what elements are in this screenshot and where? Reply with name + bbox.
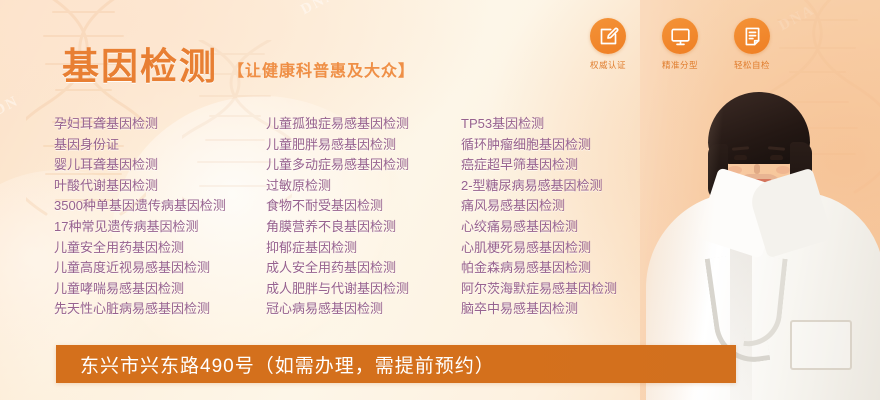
list-item[interactable]: 叶酸代谢基因检测 xyxy=(54,176,266,197)
list-item[interactable]: 婴儿耳聋基因检测 xyxy=(54,155,266,176)
list-item[interactable]: 儿童多动症易感基因检测 xyxy=(266,155,461,176)
list-item[interactable]: 帕金森病易感基因检测 xyxy=(461,258,691,279)
address-banner: 东兴市兴东路490号（如需办理，需提前预约） xyxy=(56,345,736,383)
list-item[interactable]: 过敏原检测 xyxy=(266,176,461,197)
list-item[interactable]: 17种常见遗传病基因检测 xyxy=(54,217,266,238)
list-item[interactable]: 儿童肥胖易感基因检测 xyxy=(266,135,461,156)
list-item[interactable]: 儿童哮喘易感基因检测 xyxy=(54,279,266,300)
list-item[interactable]: 癌症超早筛基因检测 xyxy=(461,155,691,176)
list-item[interactable]: 成人肥胖与代谢基因检测 xyxy=(266,279,461,300)
list-item[interactable]: 孕妇耳聋基因检测 xyxy=(54,114,266,135)
list-item[interactable]: 脑卒中易感基因检测 xyxy=(461,299,691,320)
list-item[interactable]: 先天性心脏病易感基因检测 xyxy=(54,299,266,320)
list-item[interactable]: 痛风易感基因检测 xyxy=(461,196,691,217)
monitor-icon xyxy=(662,18,698,54)
badge-authority-certification[interactable]: 权威认证 xyxy=(584,18,632,71)
page-subtitle: 【让健康科普惠及大众】 xyxy=(228,57,415,85)
watermark-text: DNA xyxy=(298,0,340,19)
address-text: 东兴市兴东路490号（如需办理，需提前预约） xyxy=(56,351,495,378)
list-item[interactable]: 儿童高度近视易感基因检测 xyxy=(54,258,266,279)
list-item[interactable]: 3500种单基因遗传病基因检测 xyxy=(54,196,266,217)
badge-label: 精准分型 xyxy=(662,59,698,71)
badge-label: 权威认证 xyxy=(590,59,626,71)
list-item[interactable]: 阿尔茨海默症易感基因检测 xyxy=(461,279,691,300)
list-item[interactable]: 抑郁症基因检测 xyxy=(266,238,461,259)
watermark-text: DN xyxy=(0,93,22,120)
document-icon xyxy=(734,18,770,54)
pen-edit-icon xyxy=(590,18,626,54)
service-column-1: 孕妇耳聋基因检测 基因身份证 婴儿耳聋基因检测 叶酸代谢基因检测 3500种单基… xyxy=(54,114,266,320)
badge-precise-typing[interactable]: 精准分型 xyxy=(656,18,704,71)
poster-header: 基因检测 【让健康科普惠及大众】 xyxy=(62,48,415,85)
list-item[interactable]: 儿童孤独症易感基因检测 xyxy=(266,114,461,135)
feature-badges: 权威认证 精准分型 轻松自检 xyxy=(584,18,776,71)
page-title: 基因检测 xyxy=(62,48,218,85)
service-list: 孕妇耳聋基因检测 基因身份证 婴儿耳聋基因检测 叶酸代谢基因检测 3500种单基… xyxy=(54,114,691,320)
badge-easy-self-test[interactable]: 轻松自检 xyxy=(728,18,776,71)
service-column-2: 儿童孤独症易感基因检测 儿童肥胖易感基因检测 儿童多动症易感基因检测 过敏原检测… xyxy=(266,114,461,320)
list-item[interactable]: TP53基因检测 xyxy=(461,114,691,135)
list-item[interactable]: 循环肿瘤细胞基因检测 xyxy=(461,135,691,156)
service-column-3: TP53基因检测 循环肿瘤细胞基因检测 癌症超早筛基因检测 2-型糖尿病易感基因… xyxy=(461,114,691,320)
list-item[interactable]: 心肌梗死易感基因检测 xyxy=(461,238,691,259)
list-item[interactable]: 2-型糖尿病易感基因检测 xyxy=(461,176,691,197)
list-item[interactable]: 心绞痛易感基因检测 xyxy=(461,217,691,238)
list-item[interactable]: 角膜营养不良基因检测 xyxy=(266,217,461,238)
list-item[interactable]: 成人安全用药基因检测 xyxy=(266,258,461,279)
list-item[interactable]: 食物不耐受基因检测 xyxy=(266,196,461,217)
list-item[interactable]: 基因身份证 xyxy=(54,135,266,156)
badge-label: 轻松自检 xyxy=(734,59,770,71)
genetic-testing-poster: DN DNA DNA DNA 基因检测 【让健康科普惠及大众】 xyxy=(0,0,880,400)
list-item[interactable]: 儿童安全用药基因检测 xyxy=(54,238,266,259)
list-item[interactable]: 冠心病易感基因检测 xyxy=(266,299,461,320)
